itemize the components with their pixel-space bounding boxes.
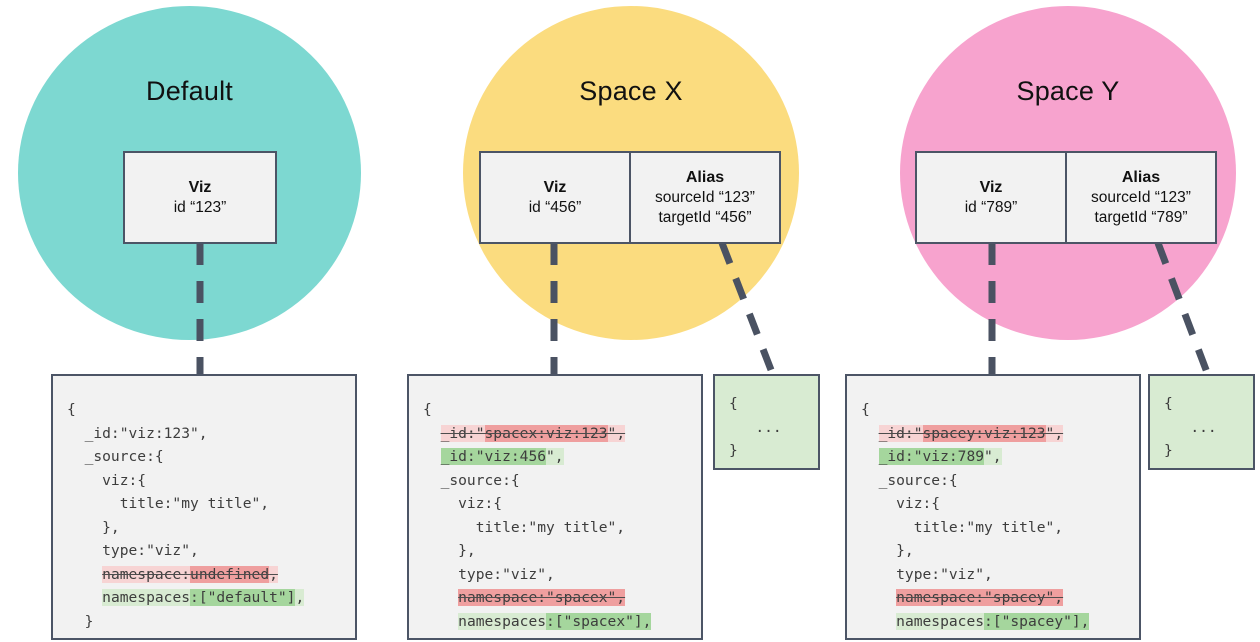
document-spacey: { _id:"spacey:viz:123", _id:"viz:789", _… [845, 374, 1141, 640]
entity-detail: id “123” [174, 198, 227, 218]
document-spacex: { _id:"spacex:viz:123", _id:"viz:456", _… [407, 374, 703, 640]
diagram-canvas: Default Space X Space Y Viz id “123” Viz… [0, 0, 1260, 642]
space-title-spacex: Space X [463, 76, 799, 107]
entity-detail: id “456” [529, 198, 582, 218]
document-spacex-alias: { ...} [713, 374, 820, 470]
entity-title: Alias [686, 168, 724, 188]
entity-detail-source: sourceId “123” [1091, 188, 1191, 208]
entity-group-spacey: Viz id “789” Alias sourceId “123” target… [915, 151, 1217, 244]
entity-detail-target: targetId “456” [658, 208, 751, 228]
entity-group-default: Viz id “123” [123, 151, 277, 244]
entity-alias-spacey: Alias sourceId “123” targetId “789” [1065, 153, 1215, 242]
entity-title: Viz [980, 178, 1003, 198]
space-title-spacey: Space Y [900, 76, 1236, 107]
document-spacey-alias: { ...} [1148, 374, 1255, 470]
entity-title: Viz [544, 178, 567, 198]
entity-detail-source: sourceId “123” [655, 188, 755, 208]
code-spacey: { _id:"spacey:viz:123", _id:"viz:789", _… [847, 376, 1139, 640]
document-default: { _id:"viz:123", _source:{ viz:{ title:"… [51, 374, 357, 640]
entity-alias-spacex: Alias sourceId “123” targetId “456” [629, 153, 779, 242]
entity-title: Viz [189, 178, 212, 198]
entity-viz-spacey: Viz id “789” [917, 153, 1065, 242]
code-spacey-alias: { ...} [1150, 376, 1253, 463]
entity-title: Alias [1122, 168, 1160, 188]
entity-detail: id “789” [965, 198, 1018, 218]
code-spacex: { _id:"spacex:viz:123", _id:"viz:456", _… [409, 376, 701, 640]
code-spacex-alias: { ...} [715, 376, 818, 463]
code-default: { _id:"viz:123", _source:{ viz:{ title:"… [53, 376, 355, 640]
entity-detail-target: targetId “789” [1094, 208, 1187, 228]
space-title-default: Default [18, 76, 361, 107]
entity-group-spacex: Viz id “456” Alias sourceId “123” target… [479, 151, 781, 244]
entity-viz-spacex: Viz id “456” [481, 153, 629, 242]
entity-viz-default: Viz id “123” [125, 153, 275, 242]
